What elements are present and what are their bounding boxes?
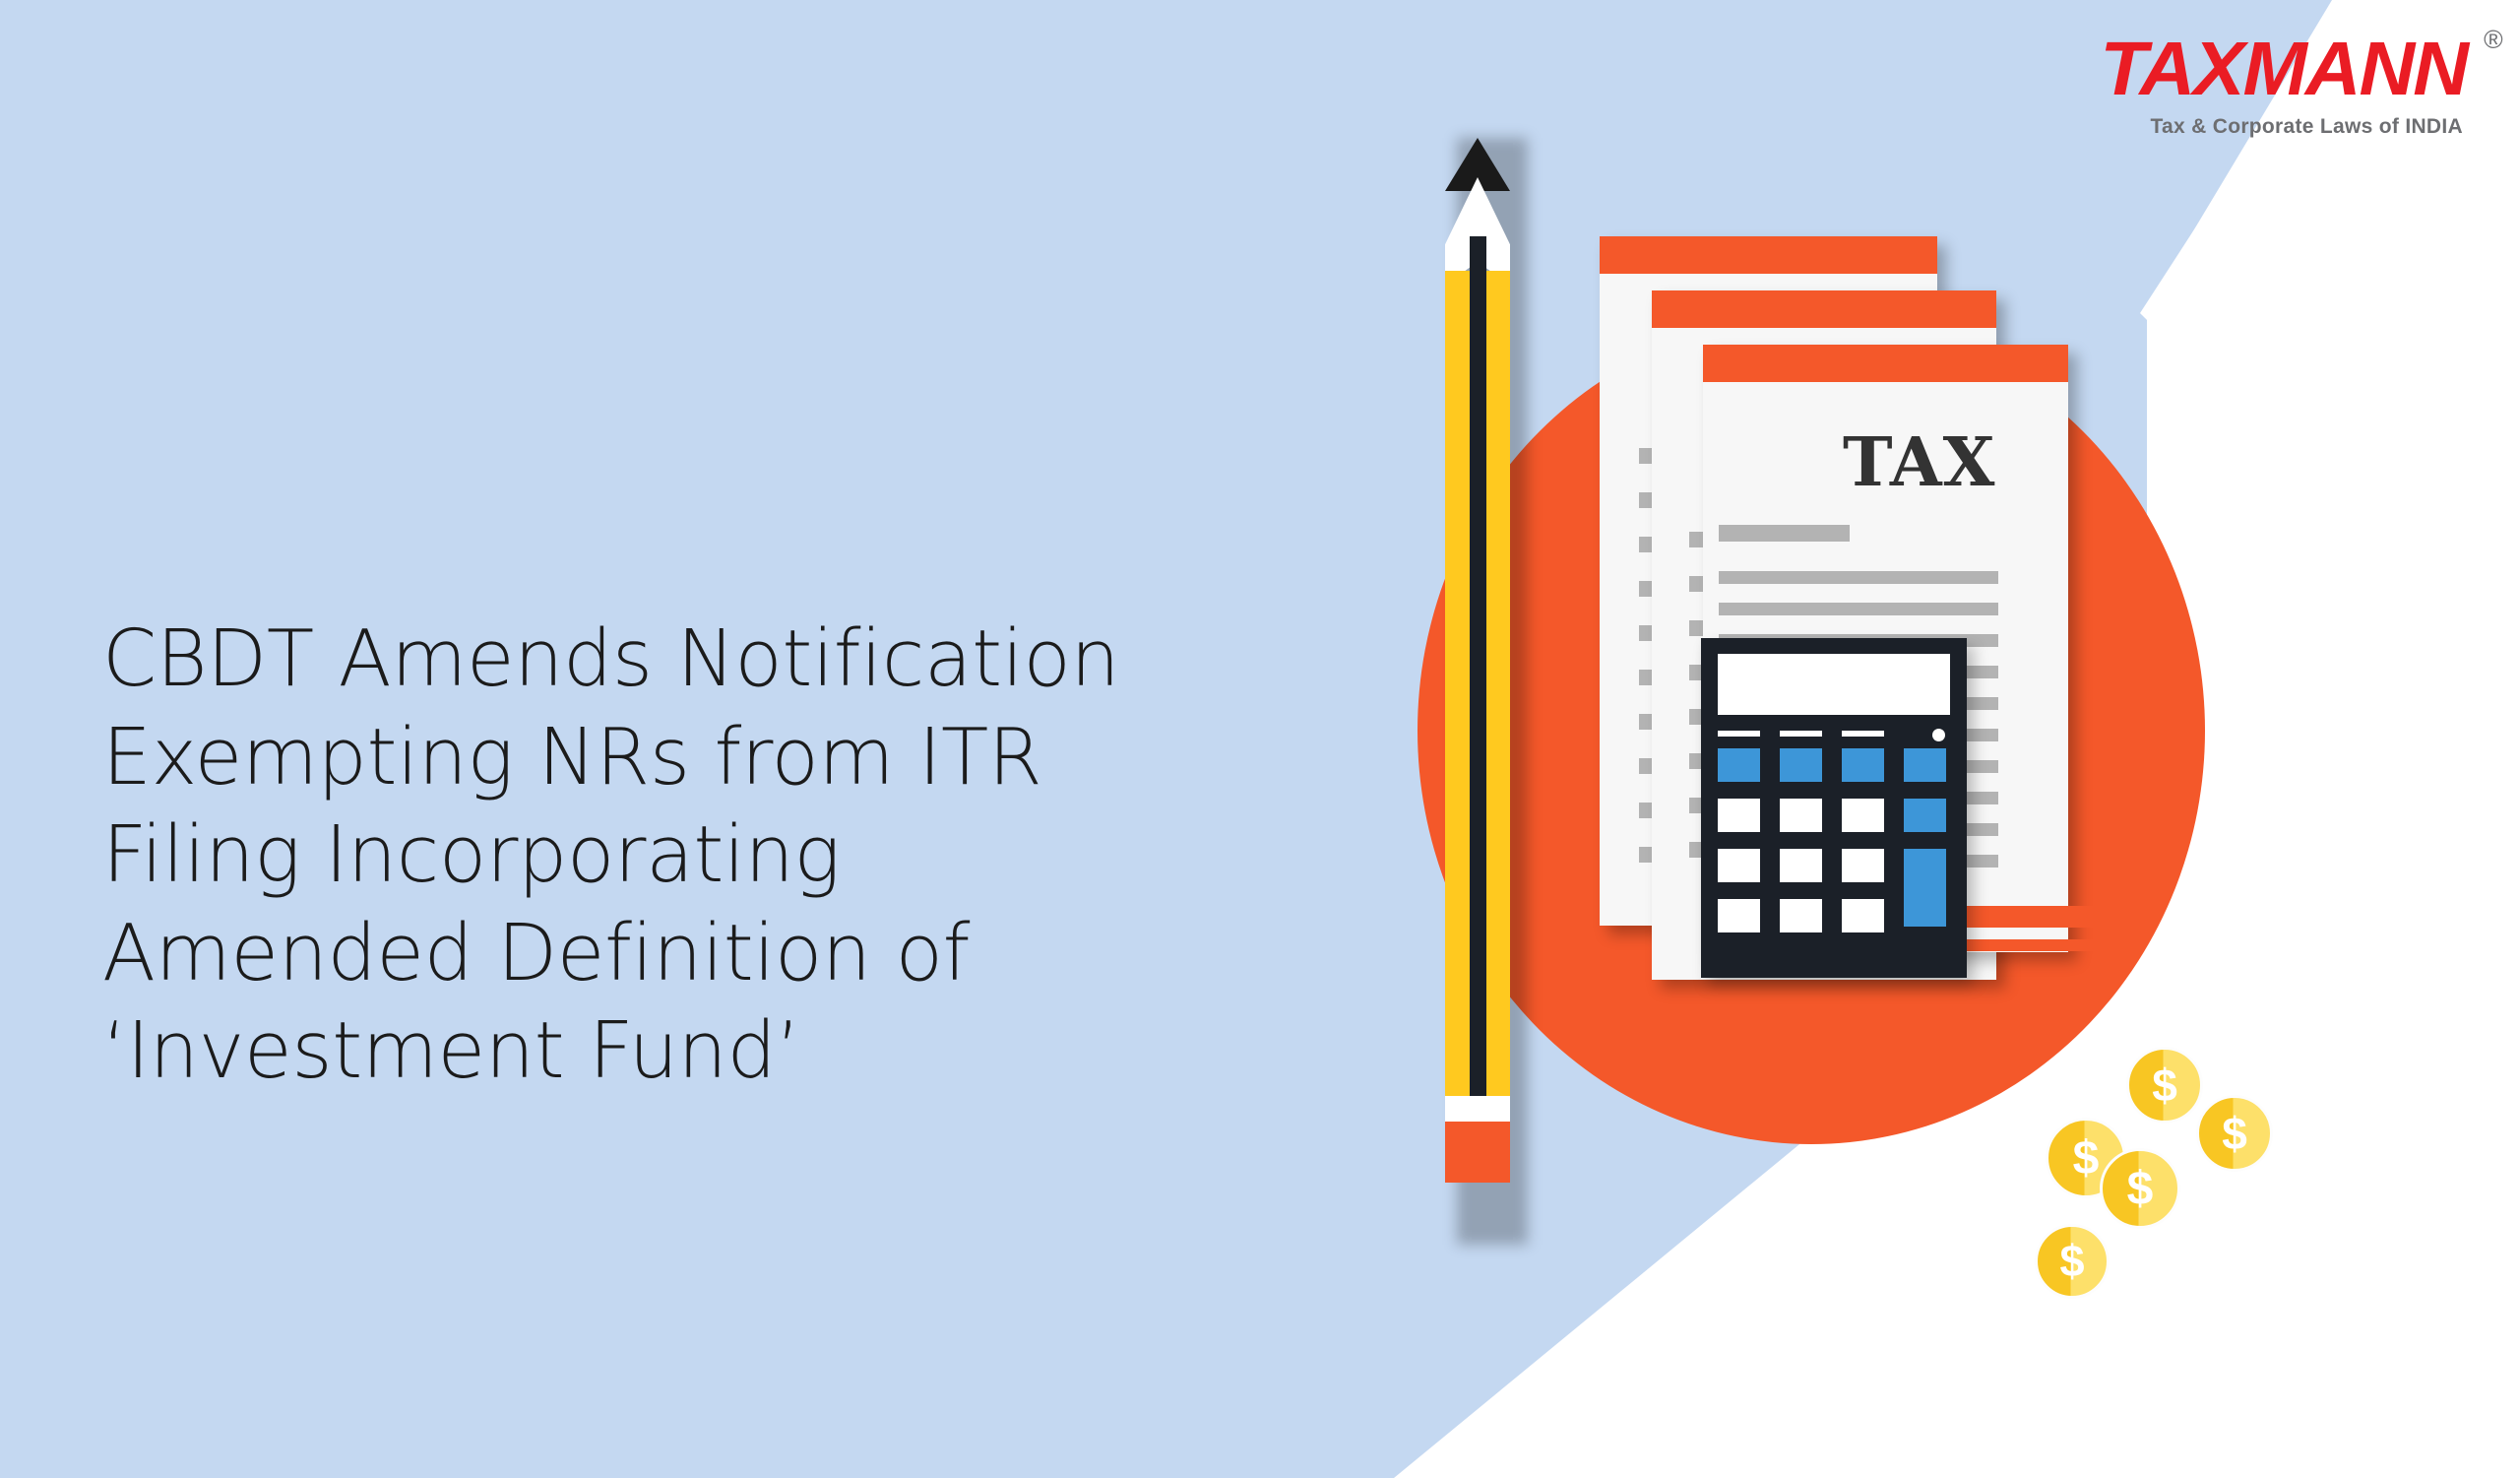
page-title: CBDT Amends Notification Exempting NRs f… xyxy=(102,610,1382,1101)
document-header-bar xyxy=(1600,236,1937,274)
dollar-coin-icon: $ xyxy=(2035,1224,2110,1299)
document-subtitle-line xyxy=(1719,525,1850,542)
calculator-power-dot-icon xyxy=(1932,729,1945,741)
calculator-equals-key[interactable] xyxy=(1904,849,1946,927)
calculator-key[interactable] xyxy=(1718,748,1760,782)
pencil-core-stripe xyxy=(1470,236,1486,1096)
document-text-line xyxy=(1719,603,1998,615)
pencil-illustration xyxy=(1445,138,1510,1241)
calculator-key[interactable] xyxy=(1842,849,1884,882)
calculator-indicator-bar xyxy=(1718,731,1760,737)
pencil-ferrule xyxy=(1445,1096,1510,1122)
headline-line-4: Amended Definition of xyxy=(102,905,1382,1003)
dollar-coin-icon: $ xyxy=(2100,1148,2180,1229)
calculator-key[interactable] xyxy=(1842,748,1884,782)
calculator-key[interactable] xyxy=(1780,849,1822,882)
headline-line-1: CBDT Amends Notification xyxy=(102,610,1382,709)
dollar-coin-icon: $ xyxy=(2126,1047,2203,1124)
calculator-indicator-bar xyxy=(1842,731,1884,737)
headline-line-3: Filing Incorporating xyxy=(102,806,1382,905)
calculator-key[interactable] xyxy=(1842,899,1884,932)
headline-line-5: ‘Investment Fund’ xyxy=(102,1002,1382,1101)
calculator-key[interactable] xyxy=(1780,899,1822,932)
calculator-illustration xyxy=(1701,638,1967,978)
calculator-key[interactable] xyxy=(1718,899,1760,932)
calculator-key[interactable] xyxy=(1904,799,1946,832)
document-header-bar xyxy=(1703,345,2068,382)
calculator-key[interactable] xyxy=(1718,849,1760,882)
calculator-key[interactable] xyxy=(1780,799,1822,832)
calculator-key[interactable] xyxy=(1718,799,1760,832)
calculator-key[interactable] xyxy=(1842,799,1884,832)
calculator-key[interactable] xyxy=(1904,748,1946,782)
calculator-indicator-bar xyxy=(1780,731,1822,737)
calculator-key[interactable] xyxy=(1780,748,1822,782)
headline-line-2: Exempting NRs from ITR xyxy=(102,709,1382,807)
pencil-eraser xyxy=(1445,1122,1510,1183)
tax-label: TAX xyxy=(1843,423,1995,502)
banner-canvas: TAXMANN ® Tax & Corporate Laws of INDIA … xyxy=(0,0,2520,1478)
document-text-line xyxy=(1719,571,1998,584)
document-header-bar xyxy=(1652,290,1996,328)
calculator-display xyxy=(1718,654,1950,715)
tax-illustration: TAX xyxy=(1260,0,2520,1478)
dollar-coin-icon: $ xyxy=(2196,1095,2273,1172)
